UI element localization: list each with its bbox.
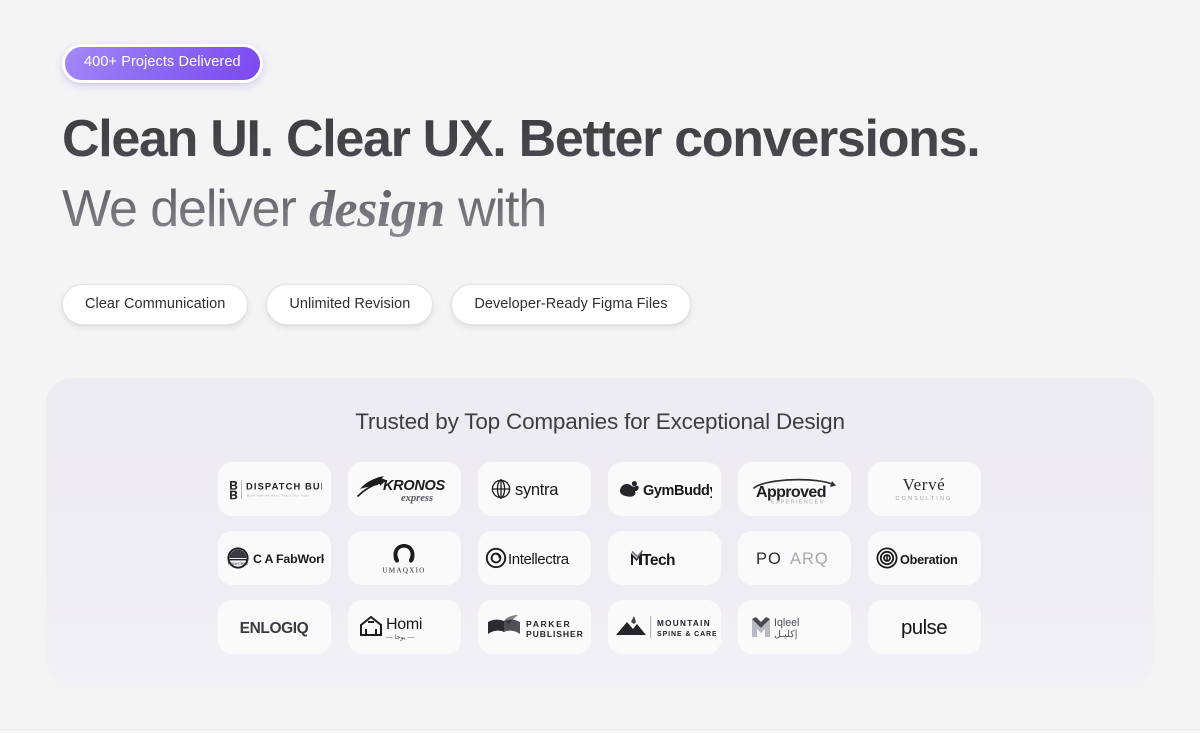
globe-icon (492, 479, 509, 499)
svg-text:PARKER: PARKER (526, 619, 571, 629)
ca-fabworks-logo: FABWORKS C A FabWorks (224, 544, 324, 572)
m-chart-mark (631, 551, 643, 566)
svg-text:PUBLISHERS: PUBLISHERS (526, 629, 584, 639)
headline-line-2-pre: We deliver (62, 180, 309, 238)
po-arq-logo: PO ARQ (750, 546, 838, 570)
page-title: Clean UI. Clear UX. Better conversions. … (62, 105, 1142, 244)
svg-text:PO: PO (756, 550, 782, 568)
logo-card-po-arq[interactable]: PO ARQ (738, 531, 851, 585)
verve-consulting-logo: Vervé CONSULTING (876, 473, 972, 505)
iqleel-logo: Iqleel إكليـل (746, 610, 842, 644)
svg-text:GymBuddy: GymBuddy (643, 483, 712, 499)
chip-unlimited-revision[interactable]: Unlimited Revision (266, 284, 433, 325)
svg-text:KRONOS: KRONOS (383, 478, 445, 494)
badge-seal-icon: FABWORKS (227, 547, 248, 568)
bicep-icon (620, 481, 639, 497)
logo-card-homi-yoga[interactable]: Homi — يوجا — (348, 600, 461, 654)
logo-card-pulse[interactable]: pulse (868, 600, 981, 654)
mountain-icon (616, 616, 646, 635)
kronos-express-logo: KRONOS express (356, 470, 452, 508)
headline-emphasis-design: design (309, 181, 445, 238)
logo-card-oberation[interactable]: Oberation (868, 531, 981, 585)
client-logo-grid: DISPATCH BUDDY Book with the Best, That'… (218, 462, 983, 654)
parker-publishers-logo: PARKER PUBLISHERS (484, 612, 584, 642)
hero-section: 400+ Projects Delivered Clean UI. Clear … (62, 44, 1142, 325)
logo-card-ca-fabworks[interactable]: FABWORKS C A FabWorks (218, 531, 331, 585)
approved-experiences-logo: Approved EXPERIENCES (746, 472, 842, 506)
headline-line-2: We deliver design with (62, 175, 1142, 245)
headline-line-1: Clean UI. Clear UX. Better conversions. (62, 110, 979, 168)
logo-card-dispatch-buddy[interactable]: DISPATCH BUDDY Book with the Best, That'… (218, 462, 331, 516)
svg-text:ARQ: ARQ (790, 550, 829, 568)
umaqxio-logo: UMAQXIO (364, 539, 444, 577)
homi-yoga-logo: Homi — يوجا — (355, 609, 453, 645)
logo-card-enlogiq[interactable]: ENLOGIQ (218, 600, 331, 654)
svg-text:Approved: Approved (756, 484, 826, 501)
feature-chip-list: Clear Communication Unlimited Revision D… (62, 284, 1142, 325)
svg-text:syntra: syntra (515, 481, 559, 499)
page-bottom-divider (0, 729, 1200, 730)
syntra-logo: syntra (488, 475, 580, 503)
svg-text:C A FabWorks: C A FabWorks (253, 552, 324, 566)
svg-text:Oberation: Oberation (900, 553, 958, 567)
logo-card-mtech[interactable]: Tech (608, 531, 721, 585)
logo-card-verve-consulting[interactable]: Vervé CONSULTING (868, 462, 981, 516)
mountain-spine-care-logo: MOUNTAIN SPINE & CARE (612, 612, 716, 642)
projects-delivered-badge: 400+ Projects Delivered (62, 44, 263, 83)
target-icon (877, 548, 896, 567)
svg-text:express: express (401, 493, 433, 504)
dispatch-buddy-logo: DISPATCH BUDDY Book with the Best, That'… (226, 476, 322, 502)
svg-text:EXPERIENCES: EXPERIENCES (771, 500, 824, 506)
svg-text:Vervé: Vervé (903, 475, 946, 494)
svg-text:MOUNTAIN: MOUNTAIN (657, 619, 711, 628)
svg-text:SPINE & CARE: SPINE & CARE (657, 631, 716, 638)
svg-text:CONSULTING: CONSULTING (896, 496, 953, 502)
svg-text:ENLOGIQ: ENLOGIQ (240, 620, 309, 637)
svg-text:Book with the Best, That's Our: Book with the Best, That's Our Trust (247, 493, 309, 497)
svg-text:Iqleel: Iqleel (774, 617, 799, 629)
house-icon (361, 617, 381, 635)
logo-card-gymbuddy[interactable]: GymBuddy (608, 462, 721, 516)
iqleel-m-mark (752, 617, 770, 637)
gymbuddy-logo: GymBuddy (616, 475, 712, 503)
chip-developer-ready-figma[interactable]: Developer-Ready Figma Files (451, 284, 690, 325)
logo-card-iqleel[interactable]: Iqleel إكليـل (738, 600, 851, 654)
svg-text:Homi: Homi (386, 616, 422, 633)
logo-card-kronos-express[interactable]: KRONOS express (348, 462, 461, 516)
logo-card-syntra[interactable]: syntra (478, 462, 591, 516)
trusted-by-panel: Trusted by Top Companies for Exceptional… (46, 378, 1154, 686)
svg-text:FABWORKS: FABWORKS (228, 562, 249, 566)
chip-clear-communication[interactable]: Clear Communication (62, 284, 248, 325)
book-icon (488, 615, 520, 634)
svg-text:— يوجا —: — يوجا — (386, 633, 415, 641)
svg-text:إكليـل: إكليـل (774, 629, 798, 640)
svg-text:Tech: Tech (642, 552, 675, 569)
logo-card-parker-publishers[interactable]: PARKER PUBLISHERS (478, 600, 591, 654)
kronos-arrow-icon (358, 476, 386, 496)
mtech-logo: Tech (625, 545, 703, 571)
spiral-icon (487, 549, 505, 567)
intellectra-logo: Intellectra (484, 545, 584, 571)
landing-page: 400+ Projects Delivered Clean UI. Clear … (0, 0, 1200, 733)
horseshoe-icon (394, 544, 415, 563)
pulse-logo: pulse (876, 613, 972, 641)
logo-card-intellectra[interactable]: Intellectra (478, 531, 591, 585)
headline-line-2-post: with (445, 180, 546, 238)
svg-text:DISPATCH BUDDY: DISPATCH BUDDY (246, 481, 322, 492)
trusted-by-title: Trusted by Top Companies for Exceptional… (46, 409, 1154, 435)
logo-card-umaqxio[interactable]: UMAQXIO (348, 531, 461, 585)
oberation-logo: Oberation (874, 545, 974, 571)
svg-text:pulse: pulse (901, 616, 947, 639)
logo-card-mountain-spine-care[interactable]: MOUNTAIN SPINE & CARE (608, 600, 721, 654)
svg-text:Intellectra: Intellectra (508, 551, 570, 568)
logo-card-approved-experiences[interactable]: Approved EXPERIENCES (738, 462, 851, 516)
svg-text:UMAQXIO: UMAQXIO (382, 567, 425, 575)
enlogiq-logo: ENLOGIQ (226, 615, 322, 639)
